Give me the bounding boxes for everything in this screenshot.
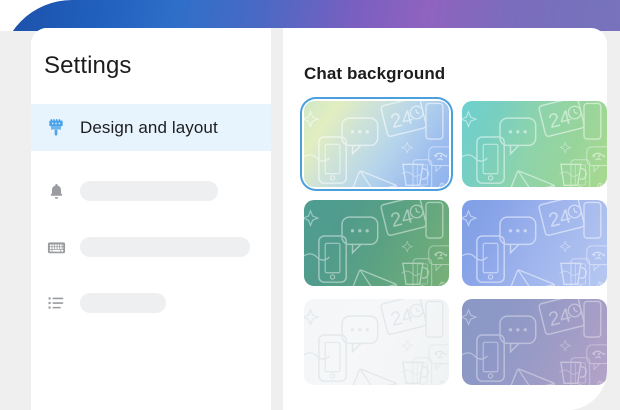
sidebar-item-keyboard[interactable] — [31, 235, 271, 259]
doodle-pattern-overlay — [304, 200, 449, 286]
sidebar-content-divider — [271, 28, 283, 410]
sidebar-item-placeholder — [80, 237, 250, 257]
chat-background-grid — [299, 101, 607, 385]
sidebar-item-design-and-layout[interactable]: Design and layout — [31, 104, 271, 151]
chat-background-thumbnail — [462, 101, 607, 187]
doodle-pattern-overlay — [462, 200, 607, 286]
doodle-pattern-overlay — [304, 101, 449, 187]
chat-background-thumbnail — [304, 101, 449, 187]
chat-background-option[interactable] — [304, 299, 449, 385]
sidebar-item-placeholder — [80, 181, 218, 201]
chat-background-thumbnail — [462, 200, 607, 286]
page-title: Settings — [31, 28, 271, 78]
doodle-pattern-overlay — [304, 299, 449, 385]
chat-background-option[interactable] — [462, 101, 607, 187]
paintbrush-icon — [44, 116, 68, 140]
section-title: Chat background — [299, 37, 607, 84]
chat-background-thumbnail — [304, 299, 449, 385]
keyboard-icon — [44, 235, 68, 259]
chat-background-option[interactable] — [304, 101, 449, 187]
settings-window: Settings — [31, 28, 607, 410]
chat-background-card: Chat background — [283, 37, 607, 410]
bell-icon — [44, 179, 68, 203]
chat-background-thumbnail — [304, 200, 449, 286]
sidebar-item-list[interactable] — [31, 291, 271, 315]
screenshot-stage: Settings — [0, 0, 620, 410]
chat-background-thumbnail — [462, 299, 607, 385]
doodle-pattern-overlay — [462, 299, 607, 385]
chat-background-option[interactable] — [462, 299, 607, 385]
chat-background-option[interactable] — [462, 200, 607, 286]
sidebar-item-label: Design and layout — [80, 118, 218, 138]
chat-background-option[interactable] — [304, 200, 449, 286]
sidebar-item-notifications[interactable] — [31, 179, 271, 203]
list-icon — [44, 291, 68, 315]
settings-sidebar: Settings — [31, 28, 271, 410]
doodle-pattern-overlay — [462, 101, 607, 187]
sidebar-item-placeholder — [80, 293, 166, 313]
